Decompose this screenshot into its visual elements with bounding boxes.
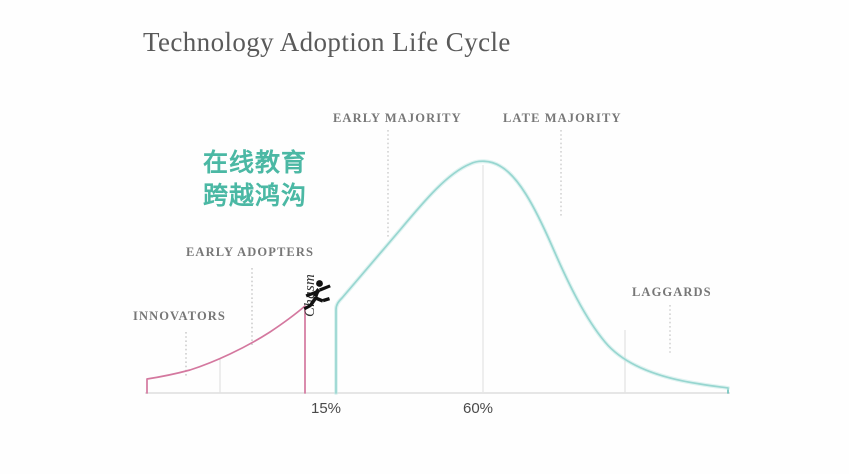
- chinese-annotation-line2: 跨越鸿沟: [203, 179, 307, 212]
- axis-tick-label-60: 60%: [463, 400, 493, 417]
- chart-canvas: Technology Adoption Life Cycle INNOVATOR…: [0, 0, 849, 474]
- segment-label-innovators: INNOVATORS: [133, 309, 226, 324]
- segment-label-late-majority: LATE MAJORITY: [503, 111, 622, 126]
- segment-label-early-adopters: EARLY ADOPTERS: [186, 245, 314, 260]
- chinese-annotation-line1: 在线教育: [203, 146, 307, 179]
- axis-tick-label-15: 15%: [311, 400, 341, 417]
- mainstream-market-curve: [336, 161, 728, 393]
- segment-label-laggards: LAGGARDS: [632, 285, 712, 300]
- chinese-annotation: 在线教育 跨越鸿沟: [203, 146, 307, 212]
- segment-label-early-majority: EARLY MAJORITY: [333, 111, 462, 126]
- mainstream-curve-glow: [336, 161, 728, 393]
- adoption-curve-plot: [0, 0, 849, 474]
- running-person-icon: [296, 277, 336, 317]
